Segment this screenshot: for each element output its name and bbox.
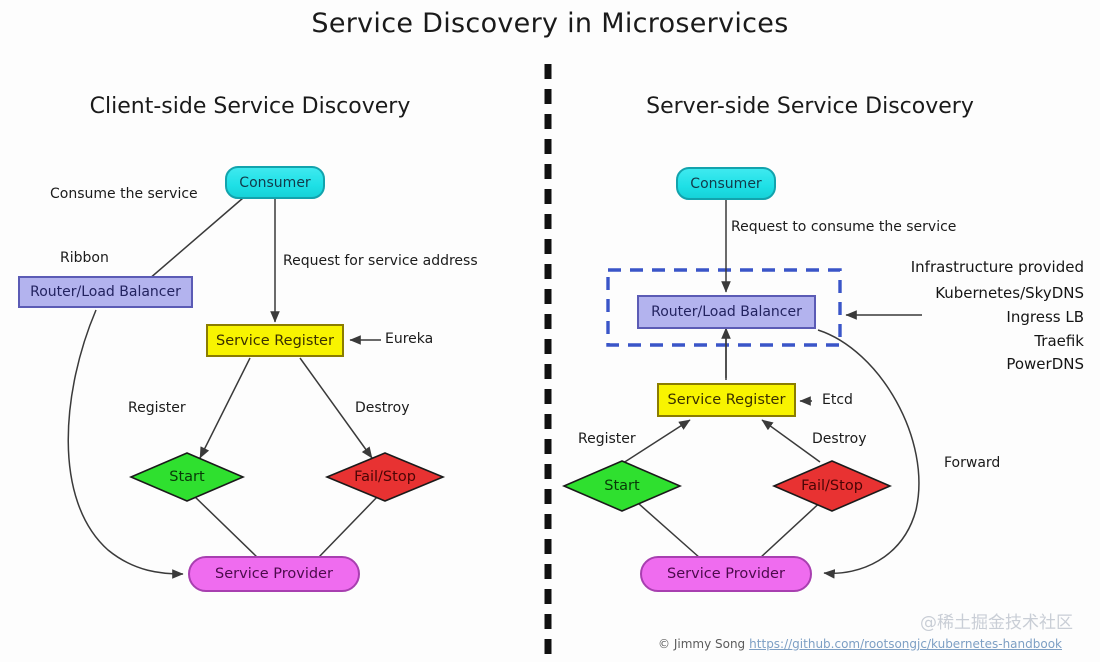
node-service-register-left[interactable]: Service Register <box>206 324 344 357</box>
page-title: Service Discovery in Microservices <box>0 8 1100 39</box>
node-consumer-right[interactable]: Consumer <box>676 167 776 200</box>
watermark: @稀土掘金技术社区 <box>920 608 1073 633</box>
edge-start-to-provider-left <box>192 494 258 558</box>
node-service-provider-left[interactable]: Service Provider <box>188 556 360 592</box>
label-register-left: Register <box>128 400 186 416</box>
label-ribbon-left: Ribbon <box>60 250 109 266</box>
infra-line-0: Infrastructure provided <box>780 258 1084 276</box>
credit-line: © Jimmy Songhttps://github.com/rootsongj… <box>658 637 1062 651</box>
node-router-left[interactable]: Router/Load Balancer <box>18 276 193 308</box>
label-register-right: Register <box>578 431 636 447</box>
infra-line-4: PowerDNS <box>780 355 1084 373</box>
node-service-provider-right[interactable]: Service Provider <box>640 556 812 592</box>
label-eureka-left: Eureka <box>385 331 433 347</box>
infra-line-1: Kubernetes/SkyDNS <box>780 284 1084 302</box>
node-fail-left-label: Fail/Stop <box>327 453 443 501</box>
infra-line-3: Traefik <box>780 332 1084 350</box>
label-request-for-service-address-left: Request for service address <box>283 253 478 269</box>
left-panel-title: Client-side Service Discovery <box>0 94 500 119</box>
right-panel-title: Server-side Service Discovery <box>560 94 1060 119</box>
node-start-left-label-wrap[interactable]: Start <box>131 453 243 501</box>
label-destroy-right: Destroy <box>812 431 866 447</box>
edge-router-to-provider-left <box>68 310 183 574</box>
label-destroy-left: Destroy <box>355 400 409 416</box>
node-fail-left-label-wrap[interactable]: Fail/Stop <box>327 453 443 501</box>
node-fail-right-label: Fail/Stop <box>774 461 890 511</box>
label-etcd-right: Etcd <box>822 392 853 408</box>
node-fail-right-label-wrap[interactable]: Fail/Stop <box>774 461 890 511</box>
label-forward-right: Forward <box>944 455 1000 471</box>
credit-author: © Jimmy Song <box>658 637 745 651</box>
label-consume-the-service-left: Consume the service <box>50 186 198 202</box>
node-consumer-left[interactable]: Consumer <box>225 166 325 199</box>
diagram-canvas: Service Discovery in Microservices Clien… <box>0 0 1100 662</box>
edge-fail-to-provider-left <box>318 494 380 558</box>
node-start-left-label: Start <box>131 453 243 501</box>
handbook-link[interactable]: https://github.com/rootsongjc/kubernetes… <box>749 637 1062 651</box>
edge-register-to-start-left <box>200 358 250 458</box>
node-start-right-label-wrap[interactable]: Start <box>564 461 680 511</box>
label-request-to-consume-the-service-right: Request to consume the service <box>731 219 956 235</box>
infra-line-2: Ingress LB <box>780 308 1084 326</box>
node-start-right-label: Start <box>564 461 680 511</box>
node-service-register-right[interactable]: Service Register <box>657 383 796 417</box>
